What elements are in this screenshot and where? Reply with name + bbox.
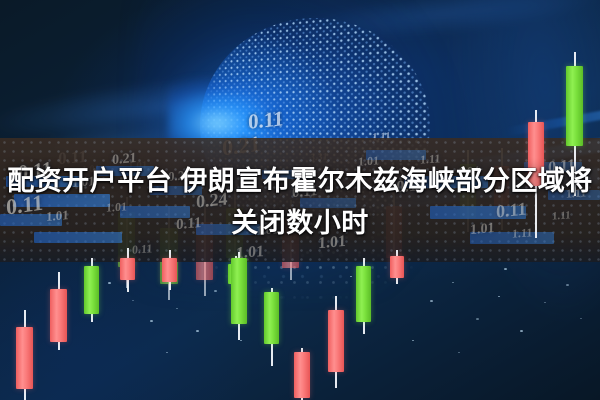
candle-body-down: [50, 289, 67, 342]
spark-particle: [476, 318, 479, 320]
spark-particle: [520, 330, 523, 332]
candle-body-up: [84, 266, 99, 314]
spark-particle: [176, 308, 178, 309]
spark-particle: [458, 352, 460, 353]
candle-body-down: [328, 310, 344, 372]
spark-particle: [544, 302, 546, 303]
spark-particle: [504, 268, 507, 270]
candle-body-down: [390, 256, 404, 278]
spark-particle: [132, 300, 134, 301]
candle-body-down: [120, 258, 135, 280]
candlestick: [84, 258, 99, 322]
candlestick: [16, 310, 33, 400]
candlestick: [390, 250, 404, 284]
candlestick: [356, 258, 371, 334]
headline-line-1: 配资开户平台 伊朗宣布霍尔木兹海峡部分区域将: [0, 160, 600, 202]
spark-particle: [498, 296, 500, 297]
candlestick: [120, 248, 135, 292]
candlestick: [294, 348, 310, 400]
candlestick: [328, 296, 344, 388]
news-banner-image: 0.110.211.113.310.111.011.01 0.110.111.0…: [0, 0, 600, 400]
candle-body-down: [16, 327, 33, 389]
headline-text: 配资开户平台 伊朗宣布霍尔木兹海峡部分区域将 关闭数小时: [0, 160, 600, 244]
spark-particle: [350, 276, 352, 277]
candlestick: [50, 272, 67, 350]
spark-particle: [240, 340, 242, 341]
candlestick: [264, 288, 279, 366]
candlestick: [162, 250, 177, 290]
candle-body-down: [294, 352, 310, 398]
candlestick: [231, 252, 247, 340]
candle-body-down: [162, 258, 177, 282]
headline-line-2: 关闭数小时: [0, 202, 600, 244]
spark-particle: [108, 282, 111, 284]
spark-particle: [452, 282, 454, 283]
spark-particle: [430, 300, 433, 302]
candle-body-up: [356, 266, 371, 322]
candle-body-up: [264, 292, 279, 344]
candle-body-up: [231, 258, 247, 324]
spark-particle: [150, 320, 153, 322]
spark-particle: [412, 340, 414, 341]
spark-particle: [580, 318, 582, 319]
spark-particle: [566, 284, 569, 286]
spark-particle: [196, 330, 199, 332]
spark-particle: [166, 352, 168, 353]
spark-particle: [214, 290, 217, 292]
candle-body-up: [566, 66, 583, 146]
